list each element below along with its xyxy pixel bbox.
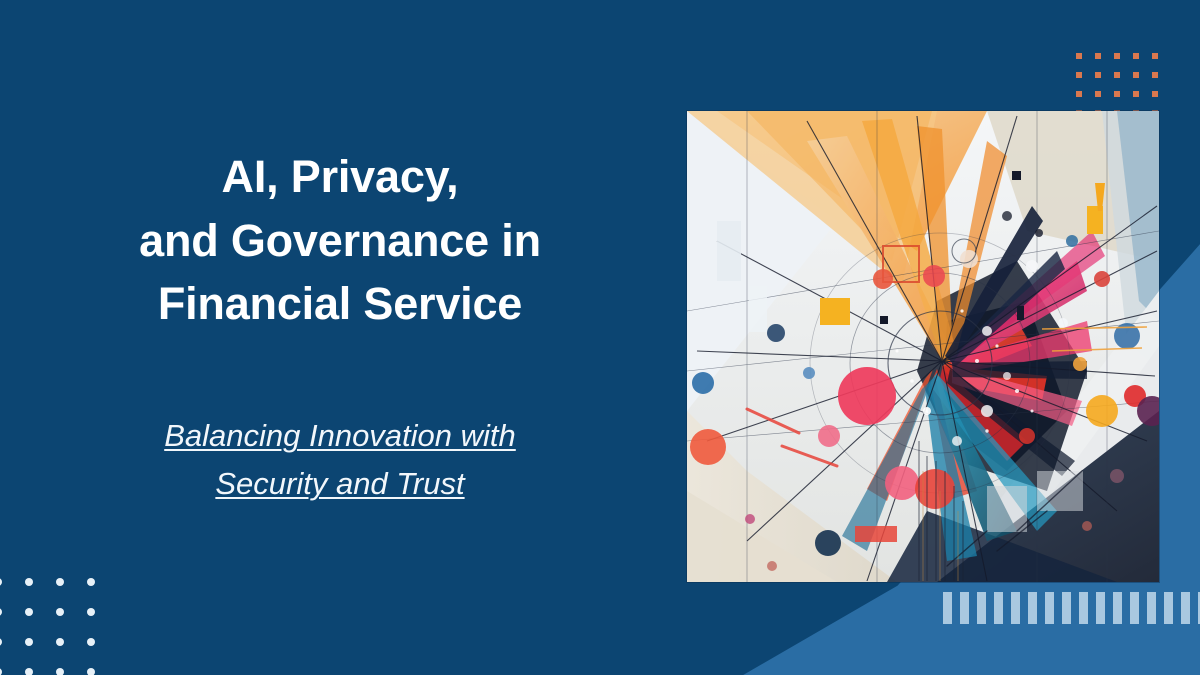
- grid-square-dot: [1114, 91, 1120, 97]
- grid-square-dot: [1095, 53, 1101, 59]
- grid-square-dot: [1076, 91, 1082, 97]
- strip-bar: [960, 592, 969, 624]
- artwork-illustration: [687, 111, 1159, 582]
- title-line: Financial Service: [139, 272, 541, 336]
- square-dot-grid: [1076, 53, 1158, 116]
- grid-square-dot: [1114, 53, 1120, 59]
- subtitle-line: Balancing Innovation with: [164, 412, 516, 460]
- strip-bar: [1181, 592, 1190, 624]
- grid-square-dot: [1076, 72, 1082, 78]
- subtitle-line: Security and Trust: [164, 460, 516, 508]
- strip-bar: [1011, 592, 1020, 624]
- strip-bar: [1113, 592, 1122, 624]
- strip-bar: [977, 592, 986, 624]
- grid-square-dot: [1133, 53, 1139, 59]
- grid-square-dot: [1095, 91, 1101, 97]
- grid-square-dot: [1133, 91, 1139, 97]
- grid-square-dot: [1133, 72, 1139, 78]
- strip-bar: [1045, 592, 1054, 624]
- strip-bar: [1062, 592, 1071, 624]
- title-line: AI, Privacy,: [139, 145, 541, 209]
- grid-square-dot: [1152, 72, 1158, 78]
- abstract-burst-artwork: [687, 111, 1159, 582]
- vertical-bar-strip: [943, 592, 1200, 624]
- slide-canvas: AI, Privacy, and Governance in Financial…: [0, 0, 1200, 675]
- page-title: AI, Privacy, and Governance in Financial…: [139, 145, 541, 337]
- strip-bar: [1147, 592, 1156, 624]
- title-line: and Governance in: [139, 209, 541, 273]
- strip-bar: [1028, 592, 1037, 624]
- grid-square-dot: [1076, 53, 1082, 59]
- strip-bar: [1096, 592, 1105, 624]
- strip-bar: [943, 592, 952, 624]
- strip-bar: [1079, 592, 1088, 624]
- strip-bar: [1164, 592, 1173, 624]
- page-subtitle: Balancing Innovation with Security and T…: [164, 412, 516, 508]
- grid-square-dot: [1152, 91, 1158, 97]
- strip-bar: [1130, 592, 1139, 624]
- strip-bar: [994, 592, 1003, 624]
- text-column: AI, Privacy, and Governance in Financial…: [0, 0, 680, 675]
- grid-square-dot: [1114, 72, 1120, 78]
- grid-square-dot: [1095, 72, 1101, 78]
- grid-square-dot: [1152, 53, 1158, 59]
